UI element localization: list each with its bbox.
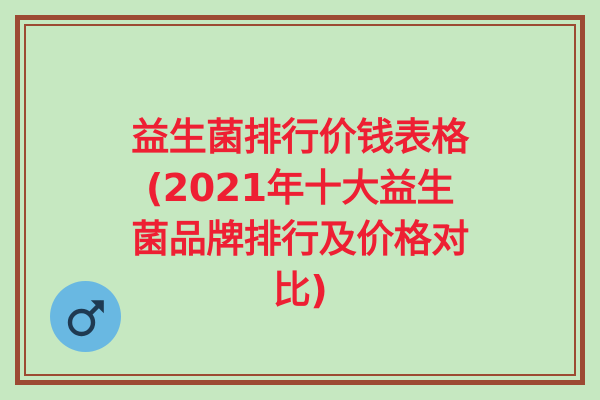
poster-canvas: 益生菌排行价钱表格(2021年十大益生菌品牌排行及价格对比) [0, 0, 600, 400]
mars-male-symbol-icon [63, 294, 109, 340]
page-title: 益生菌排行价钱表格(2021年十大益生菌品牌排行及价格对比) [128, 112, 473, 316]
mars-male-symbol-badge [50, 281, 121, 352]
